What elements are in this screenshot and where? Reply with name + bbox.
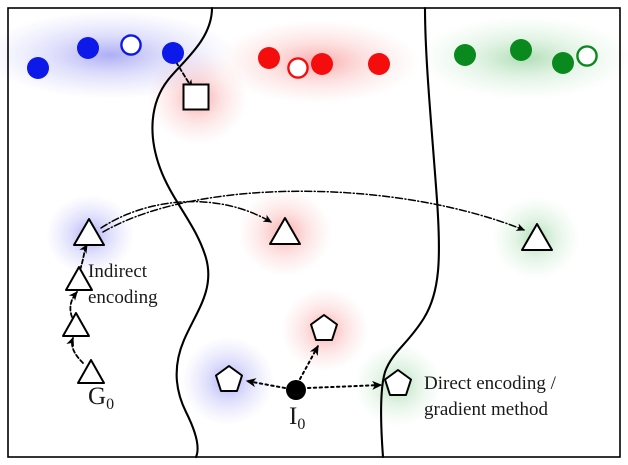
- green-dot-hollow: [577, 46, 596, 65]
- diagram-svg: Indirect encoding G0 I0 Direct encoding …: [0, 0, 628, 465]
- triangle-g1: [63, 313, 89, 336]
- square-marker: [184, 85, 209, 110]
- label-g0-subscript: 0: [106, 396, 114, 413]
- green-dot-filled: [552, 52, 574, 74]
- red-dot-filled: [311, 53, 333, 75]
- green-dot-filled: [454, 44, 476, 66]
- label-g0-base: G: [88, 383, 106, 410]
- green-dot-filled: [510, 39, 532, 61]
- blue-dot-filled: [162, 42, 184, 64]
- label-direct-encoding-line1: Direct encoding /: [424, 373, 557, 394]
- figure-canvas: Indirect encoding G0 I0 Direct encoding …: [0, 0, 628, 465]
- i0-origin-dot: [286, 380, 306, 400]
- red-dot-filled: [258, 47, 280, 69]
- blue-dot-filled: [27, 57, 49, 79]
- triangle-g0: [78, 360, 104, 383]
- label-i0: I0: [289, 403, 305, 433]
- red-dot-filled: [368, 53, 390, 75]
- label-direct-encoding-line2: gradient method: [424, 399, 548, 420]
- label-g0: G0: [88, 383, 114, 413]
- blue-dot-hollow: [121, 35, 140, 54]
- label-i0-subscript: 0: [297, 416, 305, 433]
- label-i0-base: I: [289, 403, 297, 430]
- arrow-g0-to-g1: [72, 338, 83, 363]
- red-dot-hollow: [288, 58, 307, 77]
- label-indirect-encoding-line1: Indirect: [88, 261, 148, 282]
- blue-dot-filled: [77, 37, 99, 59]
- label-indirect-encoding-line2: encoding: [88, 287, 158, 308]
